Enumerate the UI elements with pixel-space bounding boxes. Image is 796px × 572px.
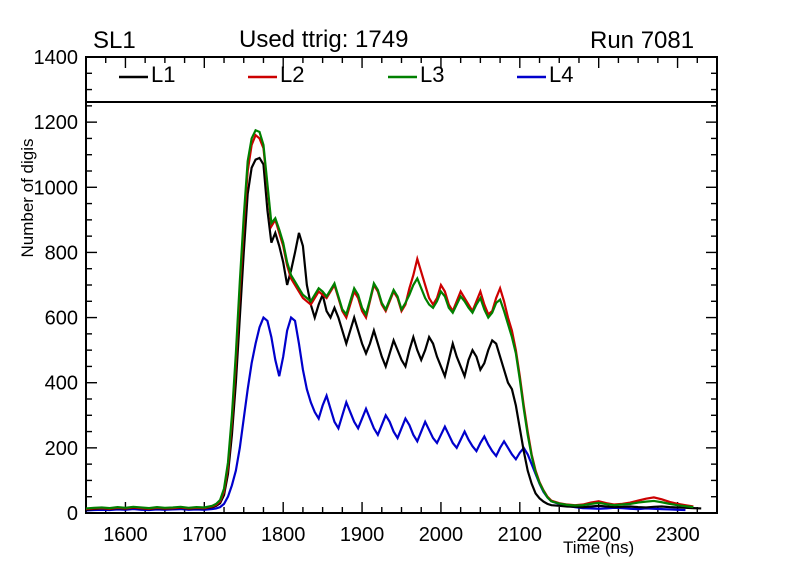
legend-label-l1: L1 bbox=[151, 62, 175, 88]
x-tick-label: 2000 bbox=[419, 524, 464, 546]
legend-label-l4: L4 bbox=[549, 62, 573, 88]
y-tick-label: 400 bbox=[45, 373, 78, 395]
x-tick-label: 2300 bbox=[655, 524, 700, 546]
legend-label-l2: L2 bbox=[280, 62, 304, 88]
series-line-l1 bbox=[86, 158, 701, 510]
series-line-l3 bbox=[86, 130, 693, 508]
y-tick-label: 600 bbox=[45, 308, 78, 330]
y-tick-label: 1400 bbox=[34, 47, 79, 69]
x-tick-label: 2200 bbox=[576, 524, 621, 546]
data-series-group bbox=[86, 130, 701, 510]
x-tick-label: 1800 bbox=[261, 524, 306, 546]
legend-label-l3: L3 bbox=[420, 62, 444, 88]
x-tick-label: 1900 bbox=[340, 524, 385, 546]
y-tick-label: 1200 bbox=[34, 112, 79, 134]
x-tick-label: 2100 bbox=[498, 524, 543, 546]
x-tick-label: 1600 bbox=[103, 524, 148, 546]
x-tick-label: 1700 bbox=[182, 524, 227, 546]
legend-box bbox=[86, 57, 717, 102]
axis-ticks bbox=[86, 57, 717, 513]
plot-canvas: SL1 Used ttrig: 1749 Run 7081 Number of … bbox=[0, 0, 796, 572]
y-tick-label: 800 bbox=[45, 242, 78, 264]
y-tick-label: 0 bbox=[67, 503, 78, 525]
chart-svg: 1600170018001900200021002200230002004006… bbox=[0, 0, 796, 572]
y-tick-label: 200 bbox=[45, 438, 78, 460]
y-tick-label: 1000 bbox=[34, 177, 79, 199]
axis-tick-labels: 1600170018001900200021002200230002004006… bbox=[34, 47, 700, 546]
series-line-l2 bbox=[86, 135, 693, 509]
plot-frame bbox=[86, 57, 717, 513]
series-line-l4 bbox=[86, 318, 685, 511]
